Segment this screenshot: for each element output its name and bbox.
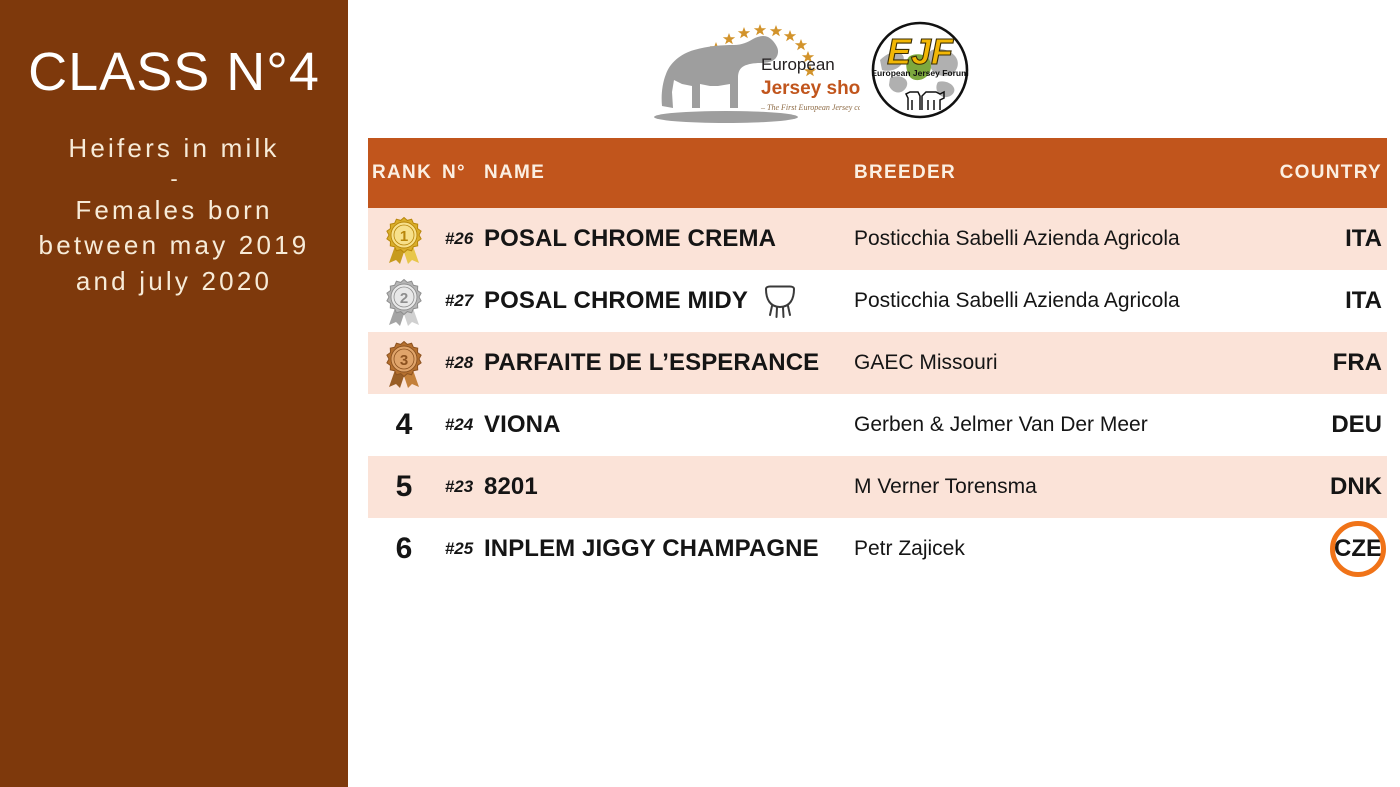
- entry-number: #25: [434, 518, 484, 580]
- european-jersey-show-logo: European Jersey show – The First Europea…: [648, 18, 860, 124]
- svg-text:1: 1: [400, 228, 408, 245]
- breeder-name: GAEC Missouri: [854, 332, 1254, 394]
- country-code-label: DEU: [1331, 411, 1382, 439]
- entry-number: #24: [434, 394, 484, 456]
- udder-icon: [760, 283, 800, 321]
- highlight-circle-icon: [1330, 521, 1386, 577]
- table-row[interactable]: 2 #27POSAL CHROME MIDY Posticchia Sabell…: [368, 270, 1387, 332]
- table-row[interactable]: 3 #28PARFAITE DE L’ESPERANCEGAEC Missour…: [368, 332, 1387, 394]
- breeder-name: M Verner Torensma: [854, 456, 1254, 518]
- country-code-label: ITA: [1345, 287, 1382, 315]
- class-description: Heifers in milk - Females born between m…: [14, 131, 334, 300]
- country-code: DEU: [1214, 394, 1387, 456]
- silver-medal-icon: 2: [368, 270, 440, 332]
- logo-bar: European Jersey show – The First Europea…: [648, 12, 988, 124]
- country-code-label: DNK: [1330, 473, 1382, 501]
- country-code: FRA: [1214, 332, 1387, 394]
- gold-medal-icon: 1: [368, 208, 440, 270]
- column-header-number: N°: [442, 138, 482, 208]
- country-code-label: FRA: [1333, 349, 1382, 377]
- column-header-country: COUNTRY: [1214, 138, 1387, 208]
- country-code-label: ITA: [1345, 225, 1382, 253]
- rank-value: 5: [368, 456, 440, 518]
- animal-name: VIONA: [484, 394, 850, 456]
- table-row[interactable]: 6#25INPLEM JIGGY CHAMPAGNEPetr ZajicekCZ…: [368, 518, 1387, 580]
- svg-text:EJF: EJF: [887, 31, 954, 72]
- svg-text:2: 2: [400, 290, 408, 307]
- country-code-label: CZE: [1334, 535, 1382, 563]
- breeder-name: Posticchia Sabelli Azienda Agricola: [854, 270, 1254, 332]
- table-header-row: RANK N° NAME BREEDER COUNTRY: [368, 138, 1387, 208]
- entry-number: #23: [434, 456, 484, 518]
- rank-value: 6: [368, 518, 440, 580]
- rank-value: 4: [368, 394, 440, 456]
- column-header-rank: RANK: [372, 138, 440, 208]
- animal-name: INPLEM JIGGY CHAMPAGNE: [484, 518, 850, 580]
- column-header-name: NAME: [484, 138, 844, 208]
- breeder-name: Gerben & Jelmer Van Der Meer: [854, 394, 1254, 456]
- class-description-line-1: Heifers in milk: [14, 131, 334, 167]
- page-title: CLASS N°4: [14, 44, 334, 101]
- country-code: ITA: [1214, 208, 1387, 270]
- country-code: ITA: [1214, 270, 1387, 332]
- animal-name: 8201: [484, 456, 850, 518]
- animal-name: PARFAITE DE L’ESPERANCE: [484, 332, 850, 394]
- table-row[interactable]: 5#238201M Verner TorensmaDNK: [368, 456, 1387, 518]
- logo-caption: European Jersey Forum: [871, 68, 969, 78]
- table-body: 1 #26POSAL CHROME CREMAPosticchia Sabell…: [368, 208, 1387, 580]
- class-description-line-2: Females born: [14, 193, 334, 229]
- table-row[interactable]: 4#24VIONAGerben & Jelmer Van Der MeerDEU: [368, 394, 1387, 456]
- results-table: RANK N° NAME BREEDER COUNTRY 1 #26POSAL …: [368, 138, 1387, 580]
- entry-number: #27: [434, 270, 484, 332]
- breeder-name: Petr Zajicek: [854, 518, 1254, 580]
- column-header-breeder: BREEDER: [854, 138, 1254, 208]
- logo-line-1: European: [761, 55, 835, 74]
- table-row[interactable]: 1 #26POSAL CHROME CREMAPosticchia Sabell…: [368, 208, 1387, 270]
- class-description-line-3: between may 2019: [14, 228, 334, 264]
- entry-number: #28: [434, 332, 484, 394]
- svg-text:3: 3: [400, 352, 408, 369]
- bronze-medal-icon: 3: [368, 332, 440, 394]
- european-jersey-forum-logo: EJF European Jersey Forum: [870, 20, 970, 120]
- entry-number: #26: [434, 208, 484, 270]
- breeder-name: Posticchia Sabelli Azienda Agricola: [854, 208, 1254, 270]
- class-info-panel: CLASS N°4 Heifers in milk - Females born…: [0, 0, 348, 787]
- logo-tagline: – The First European Jersey contest –: [760, 103, 860, 112]
- class-description-line-4: and july 2020: [14, 264, 334, 300]
- country-code: CZE: [1214, 518, 1387, 580]
- logo-line-2: Jersey show: [761, 78, 860, 99]
- animal-name: POSAL CHROME CREMA: [484, 208, 850, 270]
- country-code: DNK: [1214, 456, 1387, 518]
- class-description-separator: -: [14, 166, 334, 192]
- logo-monogram: EJF: [887, 31, 954, 72]
